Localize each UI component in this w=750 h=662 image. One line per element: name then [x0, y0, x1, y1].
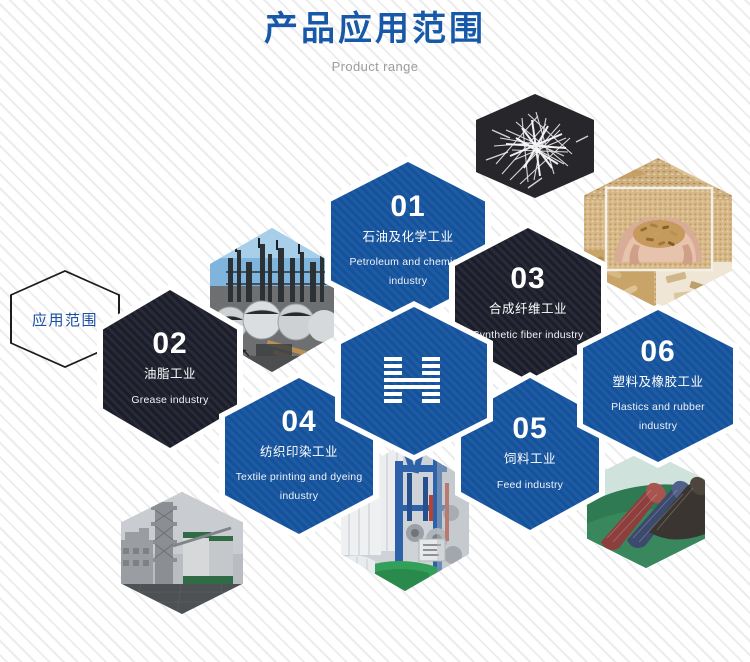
tile-01-number: 01 [390, 192, 425, 222]
tile-02[interactable]: 02 油脂工业 Grease industry [103, 290, 237, 448]
page-header: 产品应用范围 Product range [0, 0, 750, 74]
tile-02-number: 02 [152, 329, 187, 359]
synthetic-fiber-image [476, 94, 594, 198]
tile-03-title-cn: 合成纤维工业 [489, 303, 567, 316]
scope-badge-label: 应用范围 [32, 309, 98, 330]
synthetic-fiber-photo [476, 94, 594, 198]
tile-03-number: 03 [510, 264, 545, 294]
h-stripes-logo-icon [382, 353, 446, 409]
tile-06-number: 06 [640, 337, 675, 367]
synthetic-fiber-photo-frame [476, 94, 594, 198]
center-logo-tile [341, 307, 487, 455]
tile-05-title-en: Feed industry [471, 476, 590, 494]
tile-04-number: 04 [281, 407, 316, 437]
tile-01-title-cn: 石油及化学工业 [362, 231, 453, 244]
tile-06[interactable]: 06 塑料及橡胶工业 Plastics and rubber industry [583, 310, 733, 462]
tile-06-title-en: Plastics and rubber industry [594, 398, 723, 435]
page-title: 产品应用范围 [0, 0, 750, 46]
tile-05-title-cn: 饲料工业 [504, 453, 556, 466]
tile-02-title-cn: 油脂工业 [144, 368, 196, 381]
tile-04-title-cn: 纺织印染工业 [260, 446, 338, 459]
tile-06-title-cn: 塑料及橡胶工业 [612, 376, 703, 389]
tile-04-title-en: Textile printing and dyeing industry [235, 468, 362, 505]
page-subtitle: Product range [0, 59, 750, 74]
tile-05-number: 05 [512, 414, 547, 444]
tile-02-title-en: Grease industry [112, 391, 227, 409]
